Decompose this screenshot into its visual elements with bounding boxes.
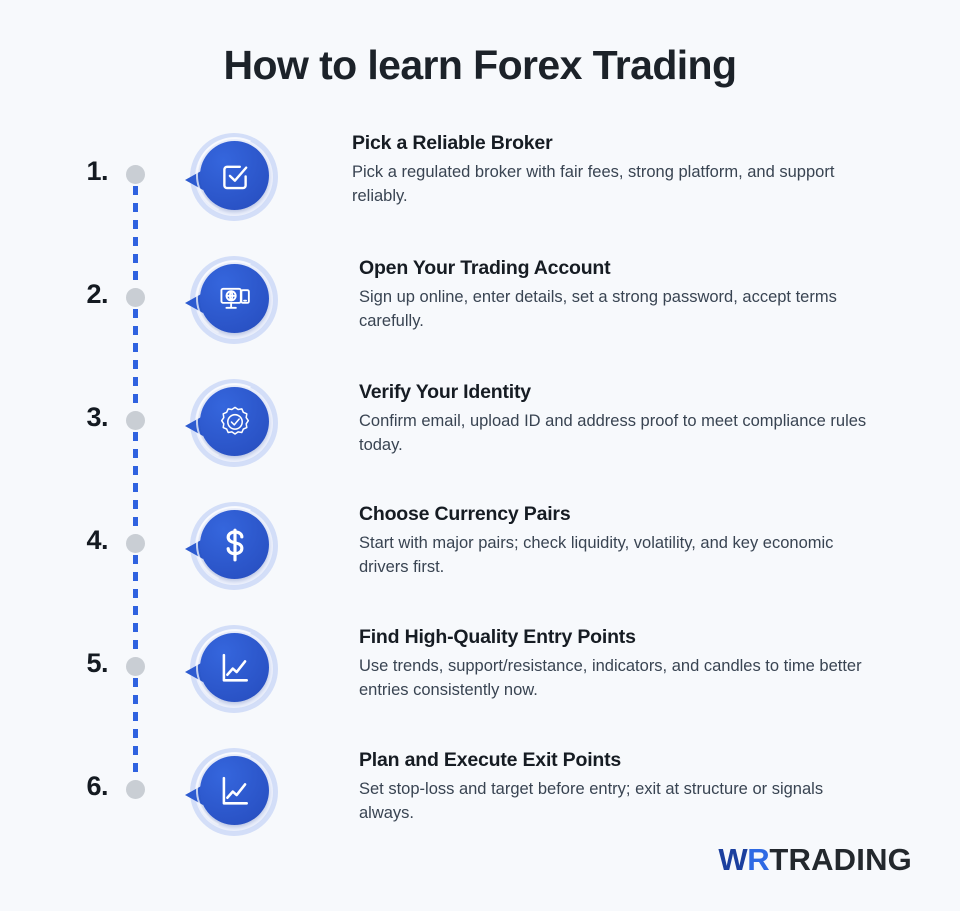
timeline-dot xyxy=(126,780,145,799)
step-text: Open Your Trading Account Sign up online… xyxy=(359,257,879,334)
list-item: 1. Pick a Reliable Broker Pick a regulat… xyxy=(0,128,960,251)
infographic-page: How to learn Forex Trading 1. Pi xyxy=(0,0,960,911)
wr-trading-logo: WRTRADING xyxy=(718,842,912,878)
step-description: Confirm email, upload ID and address pro… xyxy=(359,409,879,458)
step-title: Find High-Quality Entry Points xyxy=(359,626,879,649)
step-icon-badge xyxy=(186,252,282,348)
step-icon-badge xyxy=(186,744,282,840)
steps-list: 1. Pick a Reliable Broker Pick a regulat… xyxy=(0,128,960,866)
step-number: 5. xyxy=(60,648,108,679)
step-title: Open Your Trading Account xyxy=(359,257,879,280)
step-icon-badge xyxy=(186,621,282,717)
line-chart-icon xyxy=(200,756,269,825)
list-item: 5. Find High-Quality Entry Points Use tr… xyxy=(0,620,960,743)
timeline-dot xyxy=(126,411,145,430)
dollar-sign-icon xyxy=(200,510,269,579)
step-icon-badge xyxy=(186,498,282,594)
step-number: 4. xyxy=(60,525,108,556)
step-title: Verify Your Identity xyxy=(359,381,879,404)
timeline-dot xyxy=(126,165,145,184)
logo-w: W xyxy=(718,842,747,877)
step-description: Start with major pairs; check liquidity,… xyxy=(359,531,879,580)
timeline-dot xyxy=(126,657,145,676)
verified-badge-check-icon xyxy=(200,387,269,456)
step-text: Find High-Quality Entry Points Use trend… xyxy=(359,626,879,703)
line-chart-icon xyxy=(200,633,269,702)
step-number: 3. xyxy=(60,402,108,433)
list-item: 4. Choose Currency Pairs Start with majo… xyxy=(0,497,960,620)
step-number: 6. xyxy=(60,771,108,802)
step-description: Sign up online, enter details, set a str… xyxy=(359,285,879,334)
step-description: Set stop-loss and target before entry; e… xyxy=(359,777,879,826)
logo-trading-text: TRADING xyxy=(769,842,912,877)
step-text: Plan and Execute Exit Points Set stop-lo… xyxy=(359,749,879,826)
step-title: Plan and Execute Exit Points xyxy=(359,749,879,772)
monitor-globe-mobile-icon xyxy=(200,264,269,333)
list-item: 2. xyxy=(0,251,960,374)
step-text: Pick a Reliable Broker Pick a regulated … xyxy=(352,132,872,209)
timeline-dot xyxy=(126,534,145,553)
step-description: Pick a regulated broker with fair fees, … xyxy=(352,160,872,209)
step-title: Pick a Reliable Broker xyxy=(352,132,872,155)
step-icon-badge xyxy=(186,129,282,225)
timeline-dot xyxy=(126,288,145,307)
list-item: 3. Verify Your Identity Confirm xyxy=(0,374,960,497)
step-title: Choose Currency Pairs xyxy=(359,503,879,526)
step-description: Use trends, support/resistance, indicato… xyxy=(359,654,879,703)
logo-r: R xyxy=(747,842,769,877)
step-icon-badge xyxy=(186,375,282,471)
page-title: How to learn Forex Trading xyxy=(0,42,960,89)
step-number: 2. xyxy=(60,279,108,310)
step-number: 1. xyxy=(60,156,108,187)
step-text: Choose Currency Pairs Start with major p… xyxy=(359,503,879,580)
checkbox-checked-icon xyxy=(200,141,269,210)
step-text: Verify Your Identity Confirm email, uplo… xyxy=(359,381,879,458)
